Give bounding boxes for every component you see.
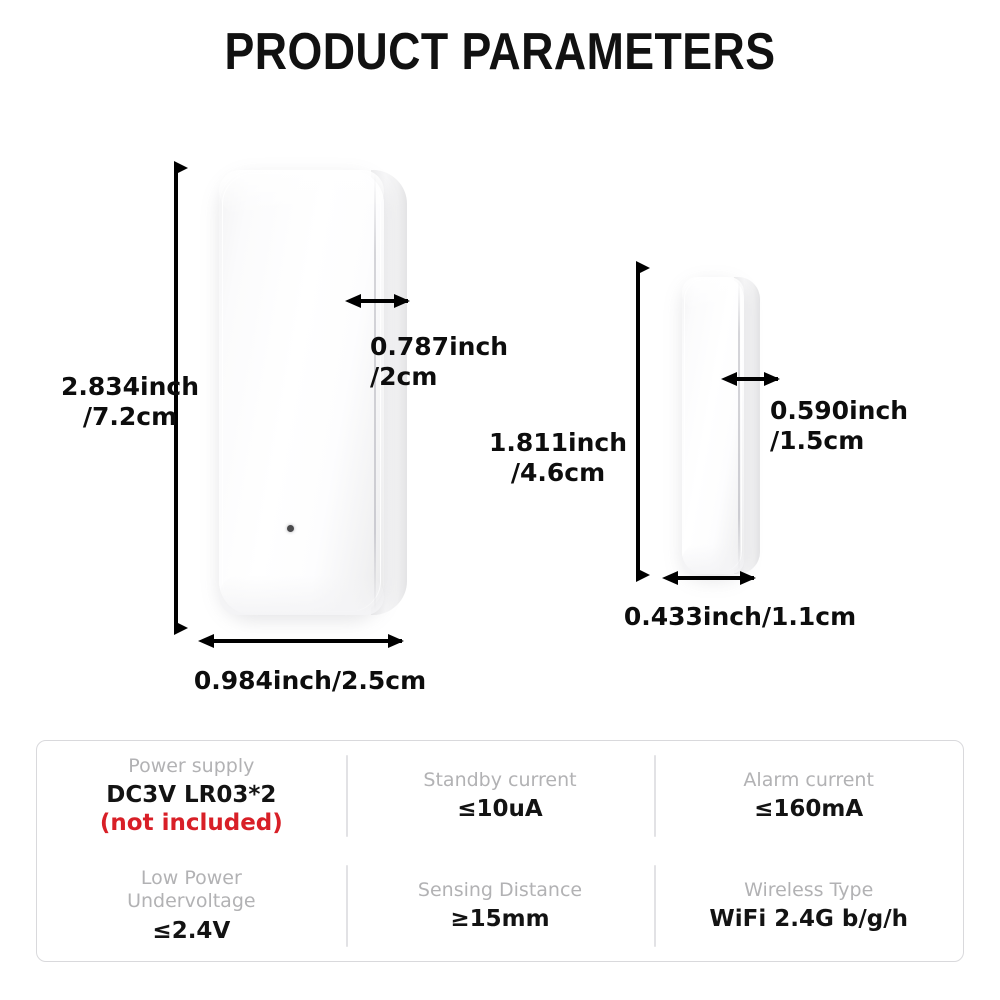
magnet-height-label: 1.811inch /4.6cm bbox=[468, 428, 648, 487]
spec-label: Sensing Distance bbox=[418, 879, 582, 903]
sensor-front-face bbox=[219, 170, 384, 615]
spec-label: Power supply bbox=[128, 755, 254, 779]
spec-label: Wireless Type bbox=[744, 879, 873, 903]
spec-value: ≤10uA bbox=[457, 795, 542, 823]
sensor-height-label: 2.834inch /7.2cm bbox=[40, 372, 220, 431]
spec-cell-wireless-type: Wireless Type WiFi 2.4G b/g/h bbox=[654, 851, 963, 961]
spec-value: WiFi 2.4G b/g/h bbox=[709, 905, 908, 933]
magnet-product-image bbox=[682, 277, 744, 574]
product-dimension-diagram: 2.834inch /7.2cm 0.787inch /2cm 0.984inc… bbox=[0, 0, 1000, 730]
sensor-depth-label: 0.787inch /2cm bbox=[370, 332, 560, 391]
sensor-led-indicator bbox=[287, 525, 294, 532]
specification-table: Power supply DC3V LR03*2 (not included) … bbox=[36, 740, 964, 962]
sensor-seam-line bbox=[374, 174, 376, 611]
magnet-seam-line bbox=[738, 281, 740, 570]
sensor-width-label: 0.984inch/2.5cm bbox=[190, 666, 430, 696]
spec-label: Alarm current bbox=[743, 769, 874, 793]
spec-cell-standby-current: Standby current ≤10uA bbox=[346, 741, 655, 851]
spec-value: ≥15mm bbox=[450, 905, 549, 933]
spec-value: ≤2.4V bbox=[152, 917, 230, 945]
spec-label: Standby current bbox=[423, 769, 576, 793]
spec-row: Low Power Undervoltage ≤2.4V Sensing Dis… bbox=[37, 851, 963, 961]
spec-value: DC3V LR03*2 bbox=[106, 781, 276, 809]
sensor-product-image bbox=[219, 170, 384, 615]
spec-note: (not included) bbox=[100, 809, 283, 837]
spec-cell-sensing-distance: Sensing Distance ≥15mm bbox=[346, 851, 655, 961]
spec-row: Power supply DC3V LR03*2 (not included) … bbox=[37, 741, 963, 851]
spec-cell-alarm-current: Alarm current ≤160mA bbox=[654, 741, 963, 851]
magnet-front-face bbox=[682, 277, 744, 574]
spec-value: ≤160mA bbox=[754, 795, 863, 823]
spec-cell-low-power-undervoltage: Low Power Undervoltage ≤2.4V bbox=[37, 851, 346, 961]
magnet-depth-label: 0.590inch /1.5cm bbox=[770, 396, 960, 455]
spec-label: Low Power Undervoltage bbox=[127, 867, 256, 915]
spec-cell-power-supply: Power supply DC3V LR03*2 (not included) bbox=[37, 741, 346, 851]
magnet-width-label: 0.433inch/1.1cm bbox=[615, 602, 865, 632]
